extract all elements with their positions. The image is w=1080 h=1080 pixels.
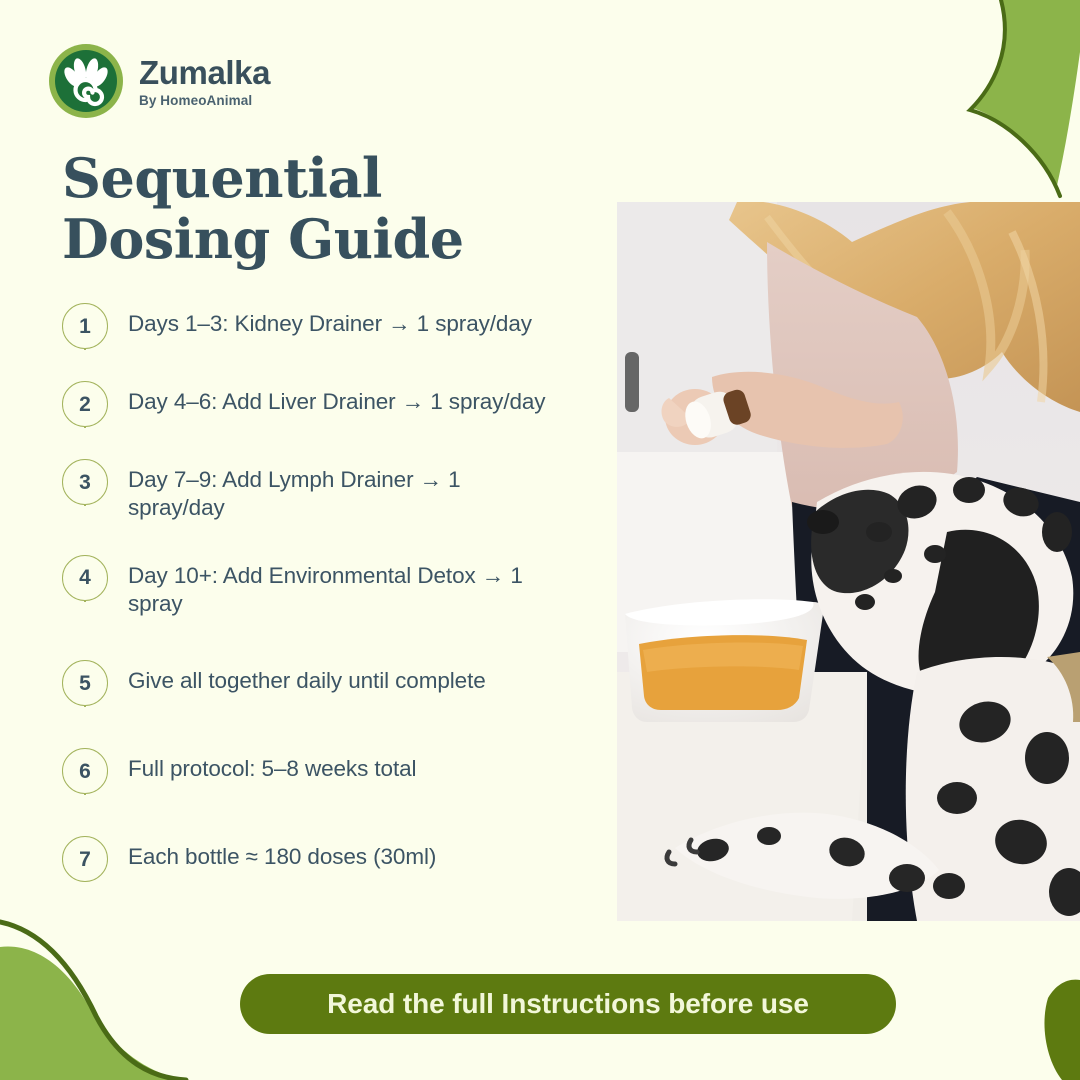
step-marker: 5	[62, 660, 108, 706]
step-marker: 3	[62, 459, 108, 505]
step-number-badge: 3	[62, 459, 108, 505]
step-number-badge: 6	[62, 748, 108, 794]
timeline-connector	[84, 505, 86, 506]
step-item: 3 Day 7–9: Add Lymph Drainer → 1 spray/d…	[62, 459, 562, 555]
step-marker: 7	[62, 836, 108, 882]
step-number-badge: 1	[62, 303, 108, 349]
step-item: 6 Full protocol: 5–8 weeks total	[62, 748, 562, 836]
step-text: Days 1–3: Kidney Drainer → 1 spray/day	[128, 303, 562, 338]
step-item: 2 Day 4–6: Add Liver Drainer → 1 spray/d…	[62, 381, 562, 459]
timeline-connector	[84, 794, 86, 795]
step-number-badge: 4	[62, 555, 108, 601]
zumalka-logo-icon	[47, 42, 125, 120]
dosing-photo	[617, 202, 1080, 921]
step-number-badge: 5	[62, 660, 108, 706]
brand-tagline: By HomeoAnimal	[139, 93, 270, 108]
timeline-connector	[84, 427, 86, 428]
leaf-shape-top-right	[972, 0, 1080, 190]
leaf-stroke-bottom-left	[0, 922, 186, 1080]
read-instructions-button[interactable]: Read the full Instructions before use	[240, 974, 896, 1034]
leaf-shape-bottom-right	[1044, 980, 1080, 1080]
dosing-steps-timeline: 1 Days 1–3: Kidney Drainer → 1 spray/day…	[62, 303, 562, 882]
brand-logo[interactable]: Zumalka By HomeoAnimal	[47, 42, 270, 120]
step-text: Full protocol: 5–8 weeks total	[128, 748, 562, 783]
step-marker: 2	[62, 381, 108, 427]
step-text: Give all together daily until complete	[128, 660, 562, 695]
timeline-connector	[84, 349, 86, 350]
step-item: 7 Each bottle ≈ 180 doses (30ml)	[62, 836, 562, 882]
step-number-badge: 2	[62, 381, 108, 427]
step-text: Each bottle ≈ 180 doses (30ml)	[128, 836, 562, 871]
step-number-badge: 7	[62, 836, 108, 882]
title-line-2: Dosing Guide	[62, 207, 464, 271]
step-marker: 1	[62, 303, 108, 349]
leaf-stroke-top-right	[970, 0, 1060, 196]
title-line-1: Sequential	[62, 146, 382, 210]
leaf-shape-bottom-left	[0, 947, 182, 1080]
timeline-connector	[84, 601, 86, 602]
infographic-poster: Zumalka By HomeoAnimal Sequential Dosing…	[0, 0, 1080, 1080]
step-item: 1 Days 1–3: Kidney Drainer → 1 spray/day	[62, 303, 562, 381]
timeline-connector	[84, 706, 86, 707]
brand-name: Zumalka	[139, 56, 270, 91]
step-item: 5 Give all together daily until complete	[62, 660, 562, 748]
step-marker: 6	[62, 748, 108, 794]
step-text: Day 7–9: Add Lymph Drainer → 1 spray/day	[128, 459, 562, 523]
step-text: Day 4–6: Add Liver Drainer → 1 spray/day	[128, 381, 562, 416]
page-title: Sequential Dosing Guide	[62, 148, 582, 270]
step-text: Day 10+: Add Environmental Detox → 1 spr…	[128, 555, 562, 619]
step-marker: 4	[62, 555, 108, 601]
step-item: 4 Day 10+: Add Environmental Detox → 1 s…	[62, 555, 562, 661]
